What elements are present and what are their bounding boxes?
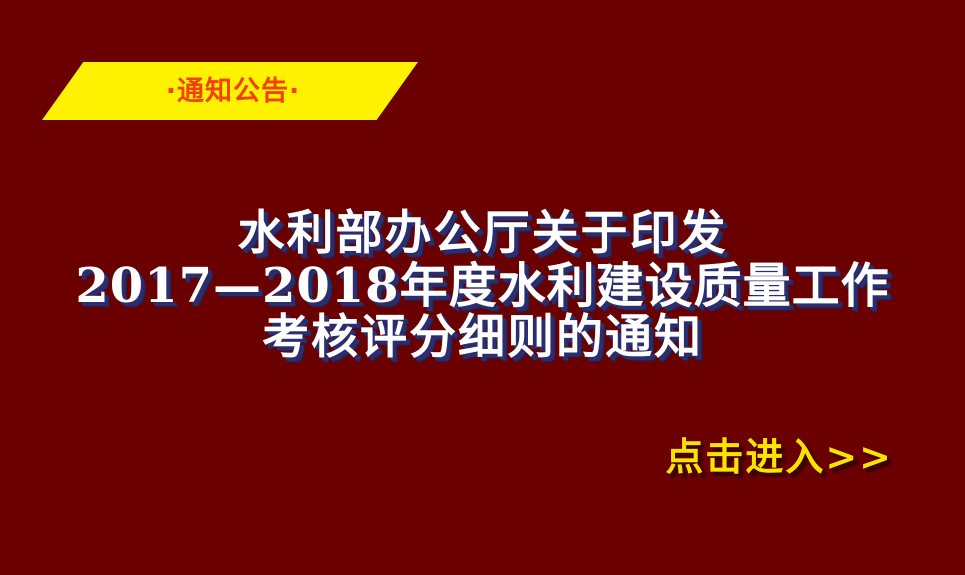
announcement-card: ·通知公告· 水利部办公厅关于印发 2017—2018年度水利建设质量工作 考核… <box>0 0 965 575</box>
page-title-line-2: 2017—2018年度水利建设质量工作 <box>0 260 965 313</box>
notice-banner: ·通知公告· <box>42 62 418 120</box>
banner-label: ·通知公告· <box>42 62 418 120</box>
page-title-line-1: 水利部办公厅关于印发 <box>0 208 965 260</box>
enter-link[interactable]: 点击进入>> <box>665 435 893 479</box>
page-title: 水利部办公厅关于印发 2017—2018年度水利建设质量工作 考核评分细则的通知 <box>0 208 965 364</box>
page-title-line-3: 考核评分细则的通知 <box>0 312 965 364</box>
